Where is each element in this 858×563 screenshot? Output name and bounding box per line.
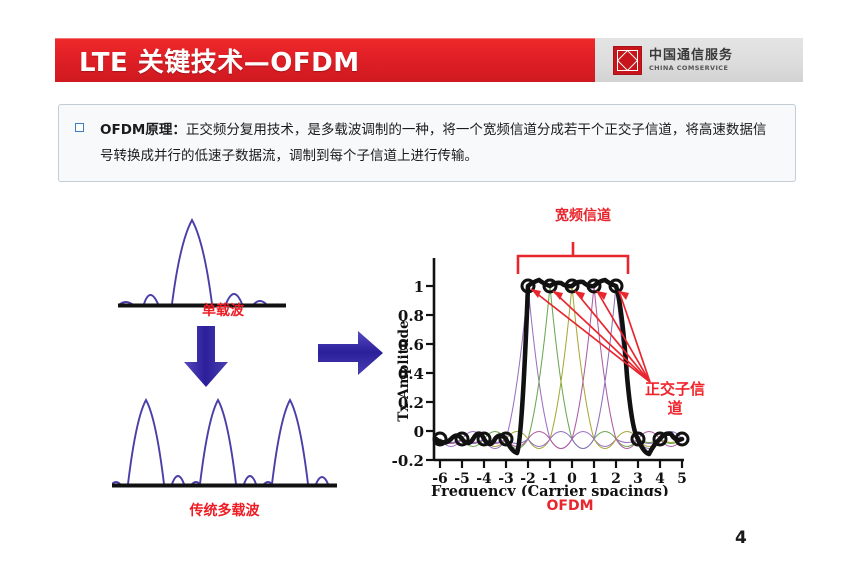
description-textbox: OFDM原理：正交频分复用技术，是多载波调制的一种，将一个宽频信道分成若干个正交… <box>58 104 796 182</box>
page-title: LTE 关键技术—OFDM <box>79 42 360 79</box>
sinc-waveform-icon <box>120 220 278 306</box>
triple-sinc-waveform-icon <box>112 400 336 486</box>
brand-logo: 中国通信服务 CHINA COMSERVICE <box>613 46 733 75</box>
chart-ylabel: Tx Amplitude <box>396 320 412 421</box>
ofdm-spectrum-chart: -0.2 0 0.2 0.4 0.6 0.8 1 -6 -5 -4 -3 -2 … <box>392 196 692 496</box>
header-logo-area: 中国通信服务 CHINA COMSERVICE <box>595 38 803 82</box>
brand-name-en: CHINA COMSERVICE <box>649 65 733 72</box>
multi-carrier-label: 传统多载波 <box>112 500 337 520</box>
svg-text:-0.2: -0.2 <box>392 452 424 470</box>
description-text: 正交频分复用技术，是多载波调制的一种，将一个宽频信道分成若干个正交子信道，将高速… <box>100 122 766 164</box>
subcarrier-pointer-arrows <box>531 289 650 382</box>
comservice-diamond-logo-icon <box>613 46 642 75</box>
square-bullet-icon <box>75 123 84 132</box>
description-paragraph: OFDM原理：正交频分复用技术，是多载波调制的一种，将一个宽频信道分成若干个正交… <box>100 117 779 169</box>
brand-name-cn: 中国通信服务 <box>649 49 733 62</box>
chart-markers <box>434 280 688 445</box>
brand-logo-text: 中国通信服务 CHINA COMSERVICE <box>649 49 733 72</box>
svg-text:5: 5 <box>677 471 687 487</box>
chart-xlabel: Frequency (Carrier spacings) <box>431 483 669 496</box>
orthogonal-subchannel-label: 正交子信道 <box>640 380 710 418</box>
svg-text:0: 0 <box>414 423 424 441</box>
svg-text:1: 1 <box>414 278 424 296</box>
chart-caption: OFDM <box>470 498 670 514</box>
description-lead: OFDM原理： <box>100 122 186 138</box>
page-number: 4 <box>735 528 747 548</box>
arrow-right-icon <box>318 330 384 376</box>
slide-header: LTE 关键技术—OFDM 中国通信服务 CHINA COMSERVICE <box>55 38 803 82</box>
multi-carrier-waveform <box>112 388 337 500</box>
wideband-channel-label: 宽频信道 <box>498 205 668 225</box>
wideband-bracket <box>518 242 628 274</box>
arrow-down-icon <box>183 326 229 388</box>
header-title-banner: LTE 关键技术—OFDM <box>55 38 595 82</box>
bullet-paragraph: OFDM原理：正交频分复用技术，是多载波调制的一种，将一个宽频信道分成若干个正交… <box>75 117 779 169</box>
slide-canvas: LTE 关键技术—OFDM 中国通信服务 CHINA COMSERVICE OF… <box>0 0 858 563</box>
single-carrier-label: 单载波 <box>118 300 328 320</box>
